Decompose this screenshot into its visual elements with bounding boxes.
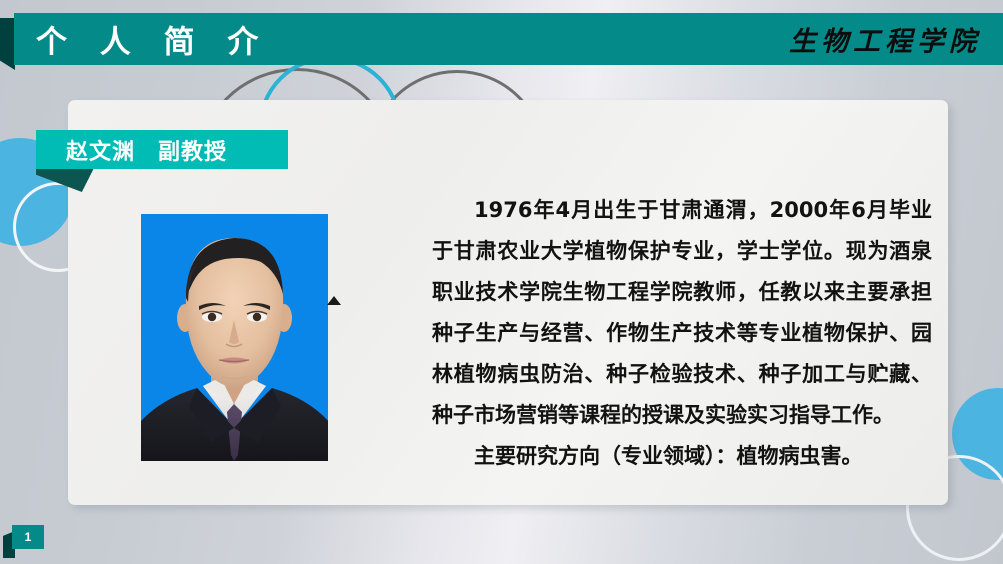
photo-pointer-marker <box>327 296 341 305</box>
bio-paragraph-1: 1976年4月出生于甘肃通渭，2000年6月毕业于甘肃农业大学植物保护专业，学士… <box>432 190 932 436</box>
institution-title: 生物工程学院 <box>789 20 981 59</box>
bio-paragraph-2: 主要研究方向（专业领域）：植物病虫害。 <box>432 436 932 477</box>
decorative-disc-blue-right <box>952 388 1003 480</box>
name-banner: 赵文渊 副教授 <box>36 130 288 169</box>
bio-text-block: 1976年4月出生于甘肃通渭，2000年6月毕业于甘肃农业大学植物保护专业，学士… <box>432 190 932 477</box>
portrait-photo <box>141 214 328 461</box>
name-banner-label: 赵文渊 副教授 <box>36 134 227 166</box>
slide-canvas: 个 人 简 介 生物工程学院 赵文渊 副教授 <box>0 0 1003 564</box>
header-ribbon-fold <box>0 18 15 70</box>
portrait-photo-graphic <box>141 214 328 461</box>
header-bar: 个 人 简 介 生物工程学院 <box>14 13 1003 65</box>
page-title: 个 人 简 介 <box>36 17 269 62</box>
page-number-badge: 1 <box>12 525 44 549</box>
